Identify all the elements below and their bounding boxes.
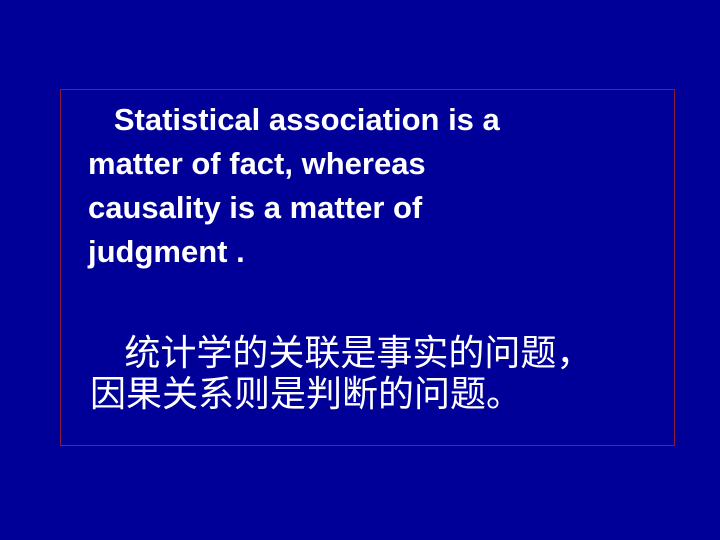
english-line-1: Statistical association is a	[88, 98, 658, 142]
english-line-3: causality is a matter of	[88, 186, 658, 230]
english-paragraph: Statistical association is a matter of f…	[88, 98, 658, 274]
text-content-box: Statistical association is a matter of f…	[60, 89, 675, 446]
english-line-4: judgment .	[88, 230, 658, 274]
presentation-slide: Statistical association is a matter of f…	[0, 0, 720, 540]
chinese-line-2: 因果关系则是判断的问题。	[90, 374, 665, 415]
english-line-2: matter of fact, whereas	[88, 142, 658, 186]
chinese-line-1: 统计学的关联是事实的问题，	[90, 333, 665, 374]
chinese-paragraph: 统计学的关联是事实的问题， 因果关系则是判断的问题。	[90, 333, 665, 415]
